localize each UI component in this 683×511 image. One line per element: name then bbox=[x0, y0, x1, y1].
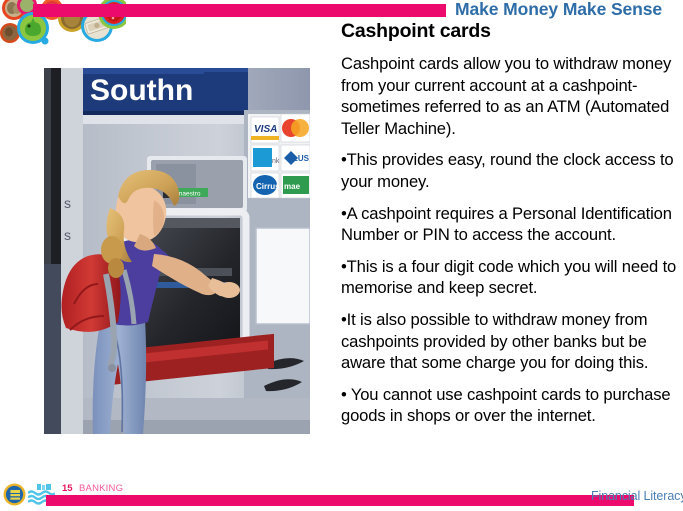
footer-brand-label: Financial Literacy bbox=[591, 489, 683, 503]
brand-title: Make Money Make Sense bbox=[455, 0, 662, 20]
footer-accent-bar bbox=[46, 495, 634, 506]
cashpoint-photo: s s Southn VISA nk LUS Cirrus bbox=[44, 68, 310, 434]
slide-content: Cashpoint cards Cashpoint cards allow yo… bbox=[341, 20, 677, 437]
section-label: BANKING bbox=[79, 483, 123, 494]
svg-text:VISA: VISA bbox=[254, 124, 277, 135]
organisation-seal-icon bbox=[3, 483, 26, 506]
bullet-round-the-clock: •This provides easy, round the clock acc… bbox=[341, 149, 677, 192]
svg-text:s: s bbox=[64, 227, 71, 243]
header-accent-bar bbox=[33, 4, 446, 17]
page-title: Cashpoint cards bbox=[341, 20, 677, 43]
bullet-four-digit-code: •This is a four digit code which you wil… bbox=[341, 256, 677, 299]
page-number: 15 bbox=[62, 483, 73, 494]
svg-text:Cirrus: Cirrus bbox=[256, 182, 280, 191]
atm-sign-text: Southn bbox=[90, 74, 193, 107]
svg-text:nk: nk bbox=[272, 158, 280, 165]
svg-text:LUS: LUS bbox=[293, 154, 310, 163]
cashpoint-photo-illustration: s s Southn VISA nk LUS Cirrus bbox=[44, 68, 310, 434]
svg-text:mae: mae bbox=[284, 182, 301, 191]
slide-footer: 15 BANKING Financial Literacy bbox=[0, 478, 683, 511]
slide-header: Make Money Make Sense bbox=[0, 0, 683, 22]
machine-maestro-label: maestro bbox=[177, 191, 201, 198]
body-paragraph-intro: Cashpoint cards allow you to withdraw mo… bbox=[341, 53, 677, 139]
svg-text:s: s bbox=[64, 195, 71, 211]
bullet-other-banks-charges: •It is also possible to withdraw money f… bbox=[341, 309, 677, 374]
seal-svg bbox=[3, 483, 26, 506]
bullet-pin-required: •A cashpoint requires a Personal Identif… bbox=[341, 203, 677, 246]
bullet-no-purchases: • You cannot use cashpoint cards to purc… bbox=[341, 384, 677, 427]
